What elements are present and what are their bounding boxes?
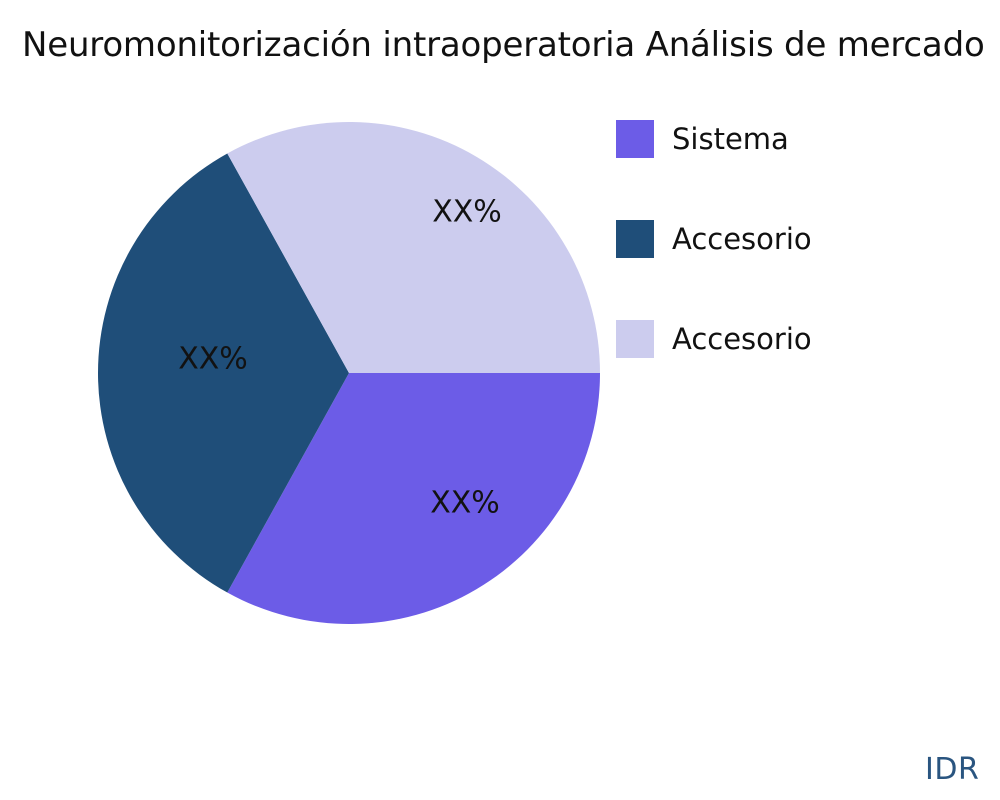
legend-label-accesorio-1: Accesorio	[672, 220, 812, 258]
pie-slice-label-sistema: XX%	[430, 486, 500, 521]
chart-plot-area: XX% XX% XX%	[0, 85, 610, 685]
watermark-idr: IDR	[925, 752, 1000, 787]
legend-item-accesorio-1[interactable]: Accesorio	[616, 201, 986, 301]
pie-slice-label-accesorio-1: XX%	[178, 342, 248, 377]
legend-label-accesorio-2: Accesorio	[672, 320, 812, 358]
chart-legend: Sistema Accesorio Accesorio	[616, 101, 986, 401]
legend-swatch-accesorio-2	[616, 320, 654, 358]
pie-slices	[98, 122, 600, 624]
legend-item-accesorio-2[interactable]: Accesorio	[616, 301, 986, 401]
pie-slice-label-accesorio-2: XX%	[432, 195, 502, 230]
pie-chart: XX% XX% XX%	[0, 85, 610, 685]
legend-item-sistema[interactable]: Sistema	[616, 101, 986, 201]
legend-swatch-sistema	[616, 120, 654, 158]
legend-swatch-accesorio-1	[616, 220, 654, 258]
page-title: Neuromonitorización intraoperatoria Anál…	[22, 23, 1000, 67]
legend-label-sistema: Sistema	[672, 120, 789, 158]
